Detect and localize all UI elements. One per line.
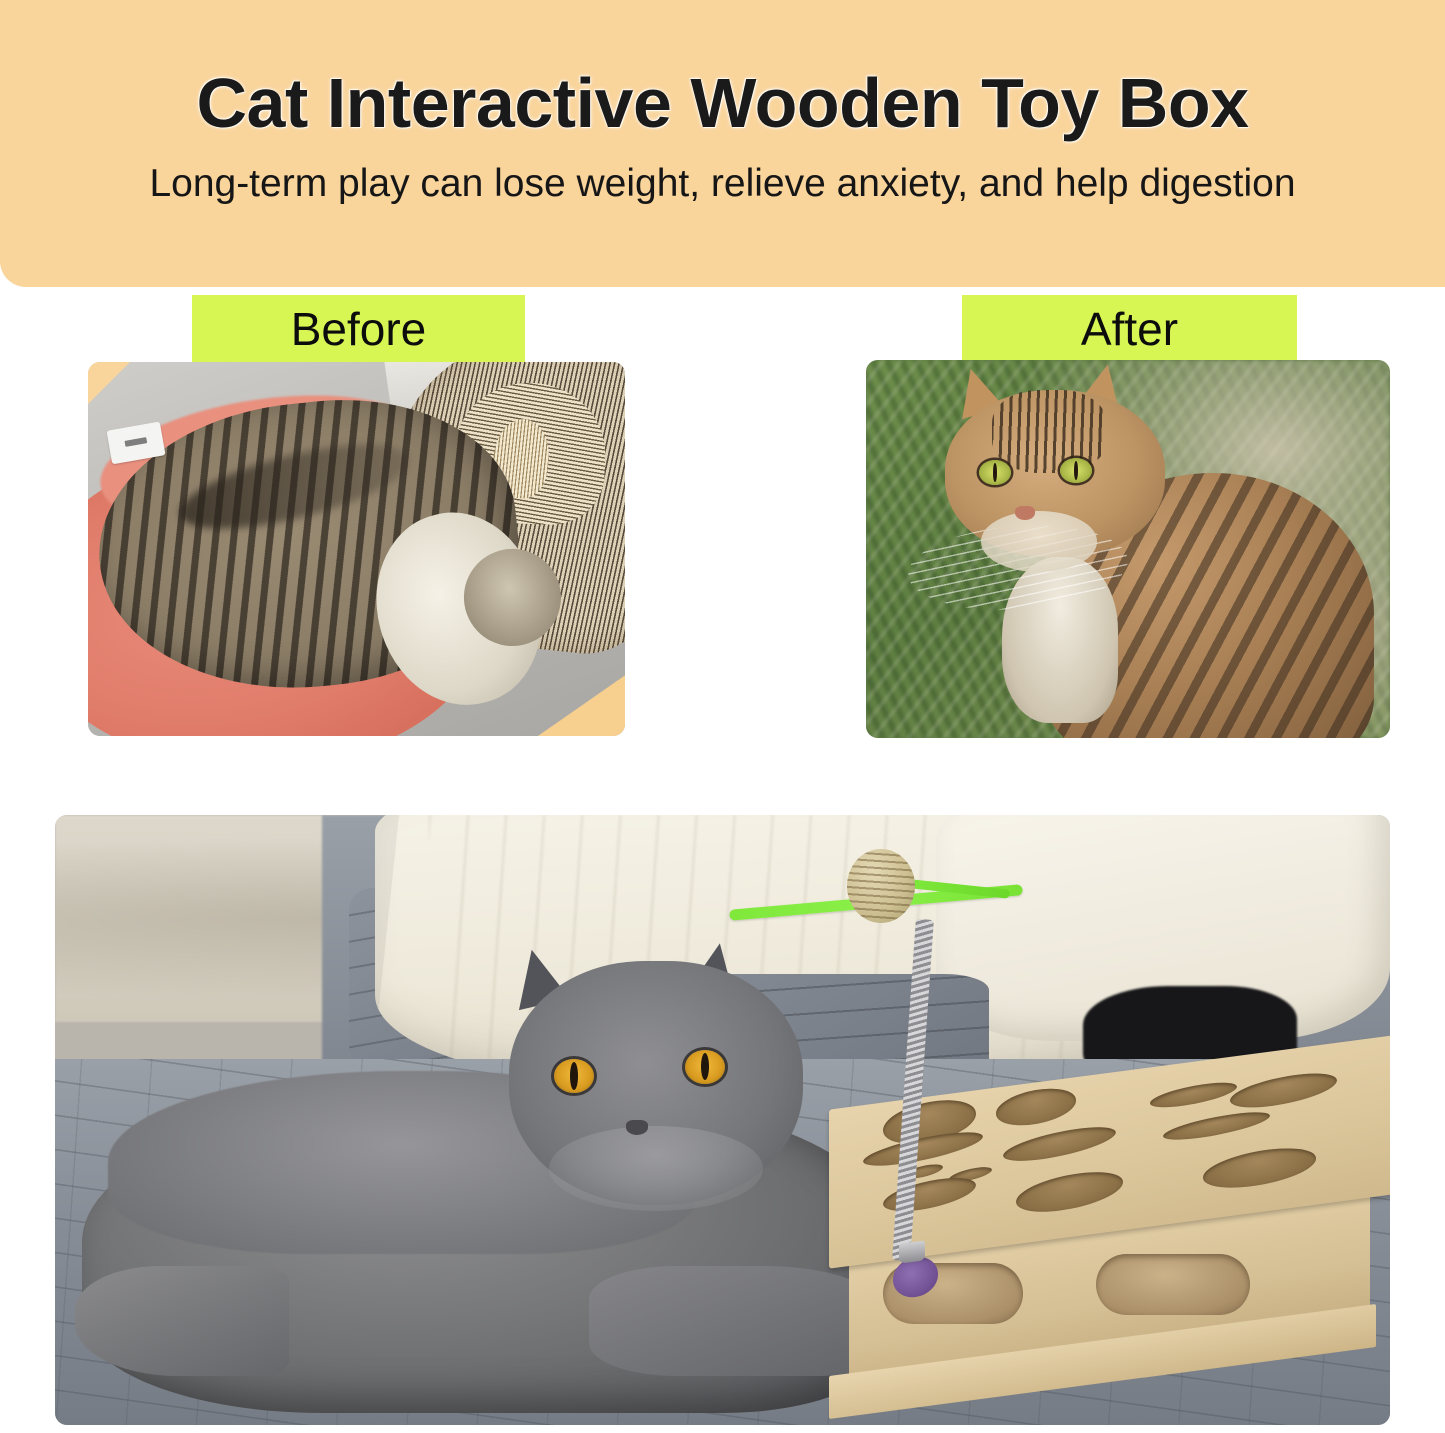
after-label-badge: After [962,295,1297,363]
spring-base-mount [899,1240,925,1263]
slim-cat-forehead-stripes [992,390,1107,473]
page-title: Cat Interactive Wooden Toy Box [196,68,1248,138]
before-photo [88,362,625,736]
grey-cat-right-eye [685,1050,725,1084]
grey-cat-hind-leg [75,1266,289,1376]
cat-dorsal-stripe [172,428,415,545]
before-photo-corner-bottomright [535,674,625,736]
grey-cat-muzzle [549,1126,763,1211]
before-photo-corner-topleft [88,362,132,406]
before-label-badge: Before [192,295,525,363]
grey-cat-left-eye [554,1059,594,1093]
after-photo [866,360,1390,738]
slim-cat-left-eye [979,460,1011,485]
sisal-ball [847,849,915,923]
header-banner: Cat Interactive Wooden Toy Box Long-term… [0,0,1445,287]
slim-cat-nose [1015,506,1035,520]
page-subtitle: Long-term play can lose weight, relieve … [149,164,1295,205]
grey-cat-front-paw [589,1266,883,1376]
slim-cat-right-eye [1060,458,1092,483]
slim-cat-muzzle [981,511,1096,571]
toy-box-front-opening-2 [1096,1254,1250,1315]
main-product-photo [55,815,1390,1425]
